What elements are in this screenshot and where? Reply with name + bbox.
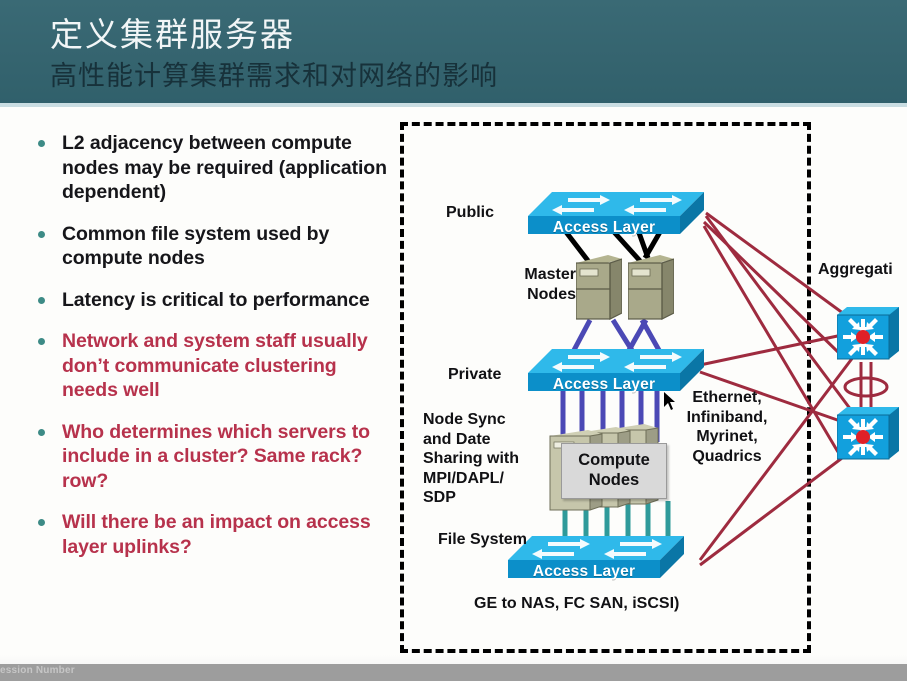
bullet-text: Latency is critical to performance <box>62 288 388 313</box>
label-fabrics: Ethernet, Infiniband, Myrinet, Quadrics <box>672 388 782 466</box>
footer-session-label: ession Number <box>0 665 75 676</box>
bullet-text: Will there be an impact on access layer … <box>62 510 388 559</box>
pointer-arrow-icon <box>663 392 677 410</box>
filesystem-access-switch[interactable]: Access Layer <box>508 530 688 592</box>
list-item: Latency is critical to performance <box>28 288 388 313</box>
bullet-dot-icon <box>38 140 45 147</box>
master-node-server-2[interactable] <box>628 255 674 328</box>
label-storage-note: GE to NAS, FC SAN, iSCSI) <box>474 594 679 614</box>
page-subtitle: 高性能计算集群需求和对网络的影响 <box>50 54 498 93</box>
list-item: Will there be an impact on access layer … <box>28 510 388 559</box>
bullet-dot-icon <box>38 231 45 238</box>
label-public: Public <box>446 203 494 223</box>
bullet-dot-icon <box>38 297 45 304</box>
master-node-server-1[interactable] <box>576 255 622 328</box>
bullet-dot-icon <box>38 429 45 436</box>
label-private: Private <box>448 365 501 385</box>
label-file-system: File System <box>438 530 527 550</box>
public-access-switch[interactable]: Access Layer <box>528 186 708 248</box>
label-node-sync: Node Sync and Date Sharing with MPI/DAPL… <box>423 410 553 508</box>
list-item: Common file system used by compute nodes <box>28 222 388 271</box>
aggregation-switch-2[interactable] <box>837 407 899 469</box>
page-title: 定义集群服务器 <box>50 8 295 56</box>
bullet-list: L2 adjacency between compute nodes may b… <box>28 131 388 576</box>
bullet-text: Network and system staff usually don’t c… <box>62 329 388 403</box>
bullet-text: Common file system used by compute nodes <box>62 222 388 271</box>
bullet-text: L2 adjacency between compute nodes may b… <box>62 131 388 205</box>
list-item: Network and system staff usually don’t c… <box>28 329 388 403</box>
list-item: Who determines which servers to include … <box>28 420 388 494</box>
bullet-dot-icon <box>38 338 45 345</box>
compute-nodes-label: Compute Nodes <box>566 450 662 490</box>
bullet-dot-icon <box>38 519 45 526</box>
label-master-nodes: Master Nodes <box>508 265 576 304</box>
list-item: L2 adjacency between compute nodes may b… <box>28 131 388 205</box>
aggregation-switch-1[interactable] <box>837 307 899 369</box>
header-accent-bar <box>0 103 907 107</box>
label-aggregation: Aggregati <box>818 260 893 280</box>
slide-footer <box>0 664 907 681</box>
bullet-text: Who determines which servers to include … <box>62 420 388 494</box>
